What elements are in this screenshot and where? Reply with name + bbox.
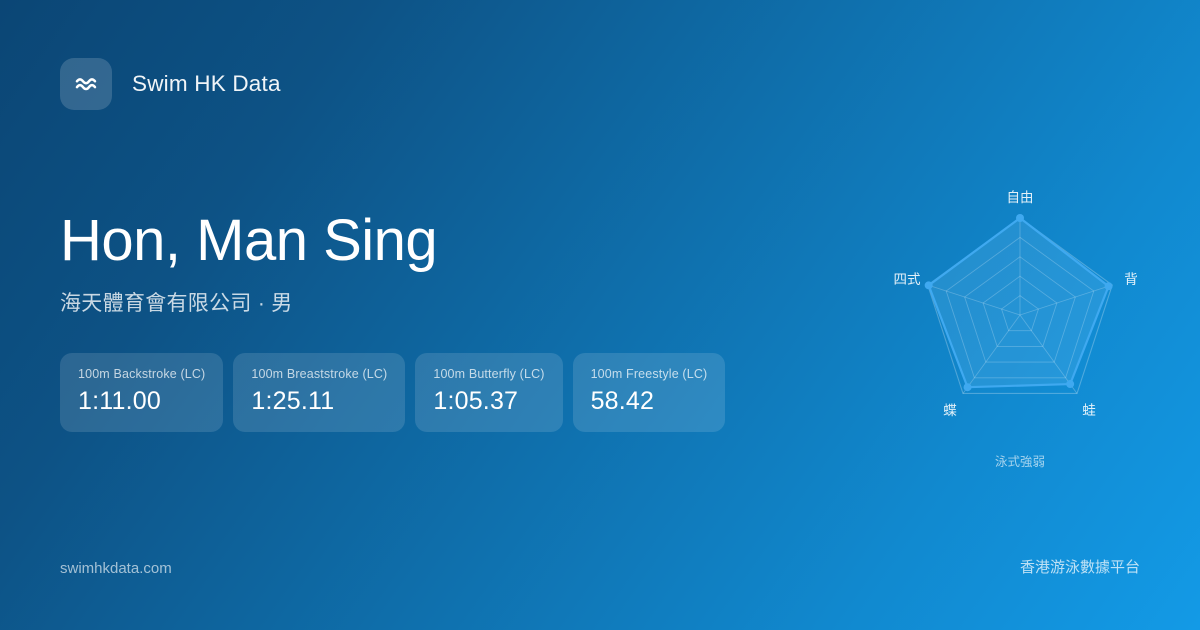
hero-block: Hon, Man Sing 海天體育會有限公司 · 男: [60, 210, 820, 317]
stat-card-label: 100m Breaststroke (LC): [251, 367, 387, 381]
athlete-meta: 海天體育會有限公司 · 男: [60, 287, 820, 317]
stat-card: 100m Butterfly (LC) 1:05.37: [415, 353, 562, 432]
brand-name: Swim HK Data: [132, 71, 281, 97]
og-card: Swim HK Data Hon, Man Sing 海天體育會有限公司 · 男…: [0, 0, 1200, 630]
stat-card: 100m Backstroke (LC) 1:11.00: [60, 353, 223, 432]
stat-card-value: 1:05.37: [433, 387, 544, 416]
stat-card-label: 100m Backstroke (LC): [78, 367, 205, 381]
radar-chart: 自由 背 蛙 蝶 四式 泳式強弱: [860, 165, 1180, 475]
radar-axis-label-breast: 蛙: [1082, 399, 1096, 419]
radar-axis-label-back: 背: [1124, 268, 1138, 288]
stat-card: 100m Freestyle (LC) 58.42: [573, 353, 726, 432]
stat-card-label: 100m Freestyle (LC): [591, 367, 708, 381]
radar-axis-label-free: 自由: [1007, 186, 1034, 206]
footer-tagline: 香港游泳數據平台: [1020, 556, 1140, 577]
stat-card-value: 1:11.00: [78, 387, 205, 416]
page-title: Hon, Man Sing: [60, 210, 820, 273]
stat-card-list: 100m Backstroke (LC) 1:11.00 100m Breast…: [60, 353, 725, 432]
footer-site: swimhkdata.com: [60, 560, 172, 577]
stat-card-label: 100m Butterfly (LC): [433, 367, 544, 381]
stat-card-value: 58.42: [591, 387, 708, 416]
radar-axis-label-im: 四式: [894, 268, 921, 288]
wave-icon: [72, 70, 100, 98]
brand-header: Swim HK Data: [60, 58, 281, 110]
stat-card: 100m Breaststroke (LC) 1:25.11: [233, 353, 405, 432]
app-logo: [60, 58, 112, 110]
stat-card-value: 1:25.11: [251, 387, 387, 416]
radar-caption: 泳式強弱: [995, 451, 1045, 470]
radar-axis-label-fly: 蝶: [943, 399, 957, 419]
